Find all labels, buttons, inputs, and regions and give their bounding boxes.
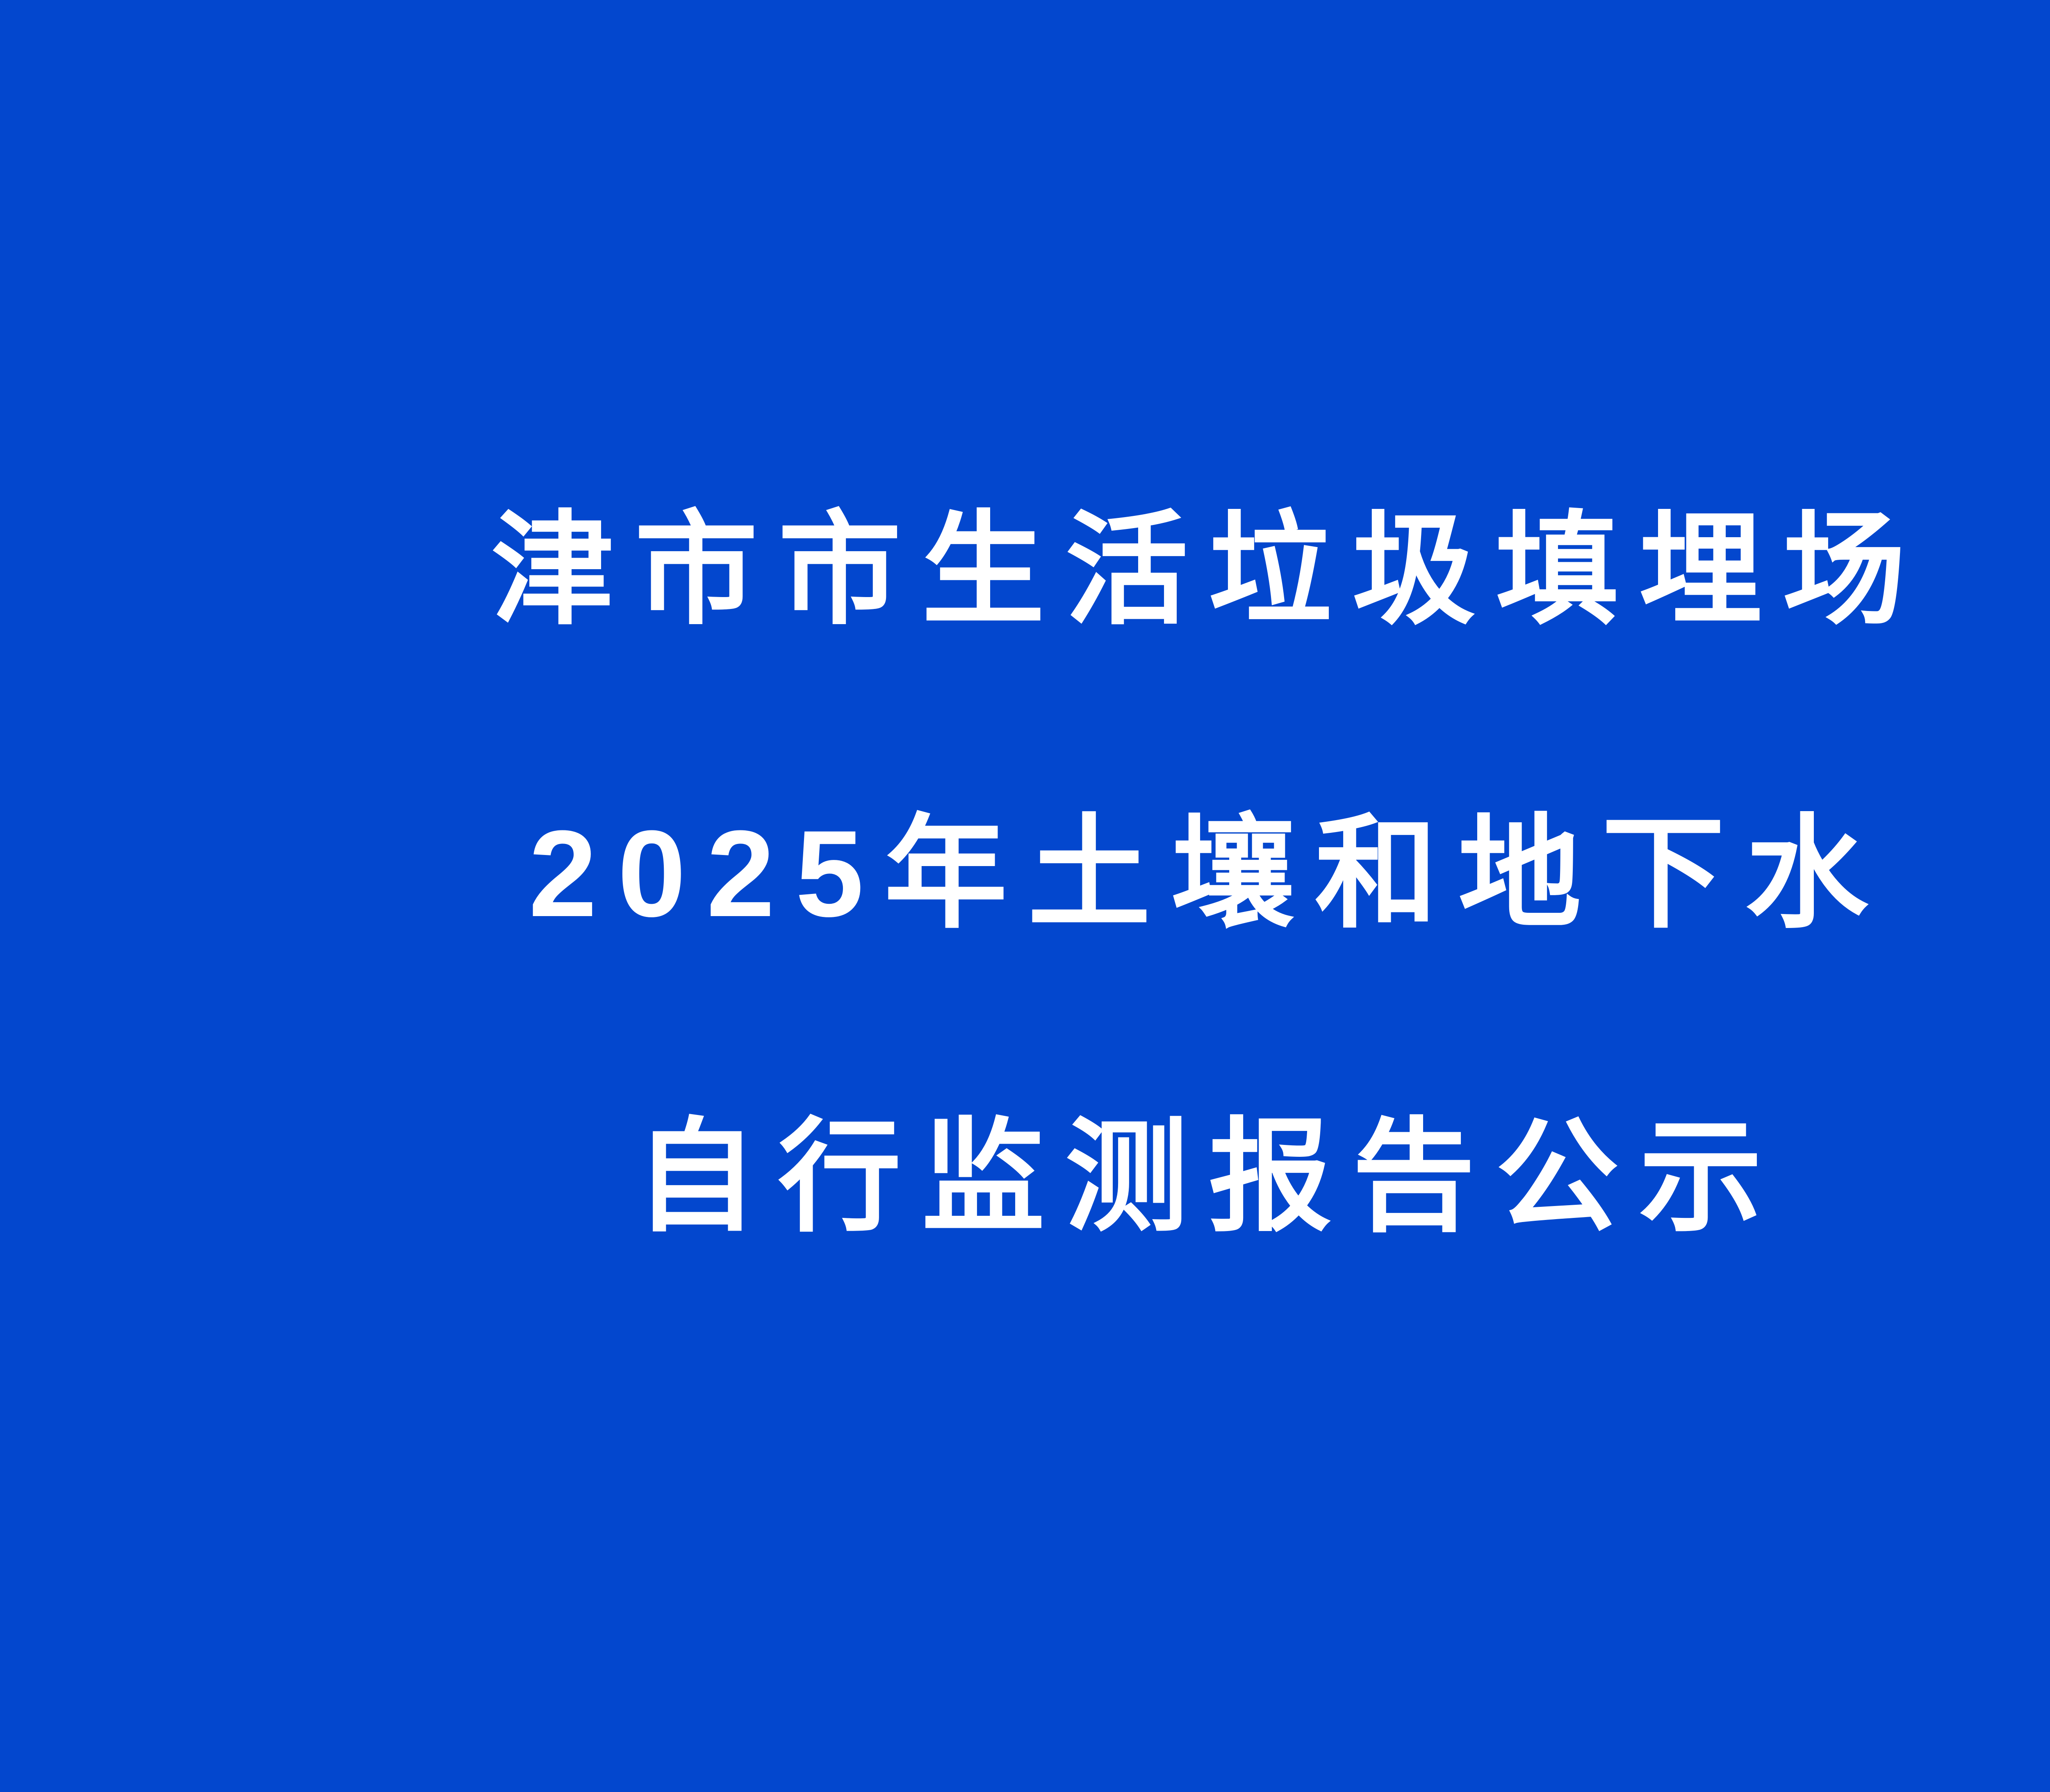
poster-title-line-3: 自行监测报告公示 (614, 1087, 1783, 1267)
poster-title-line-1: 津市市生活垃圾填埋场 (471, 480, 1926, 660)
announcement-poster: 津市市生活垃圾填埋场 2025年土壤和地下水 自行监测报告公示 (0, 0, 2050, 1792)
poster-title-line-2: 2025年土壤和地下水 (508, 783, 1888, 964)
poster-title-block: 津市市生活垃圾填埋场 2025年土壤和地下水 自行监测报告公示 (0, 480, 2050, 1267)
